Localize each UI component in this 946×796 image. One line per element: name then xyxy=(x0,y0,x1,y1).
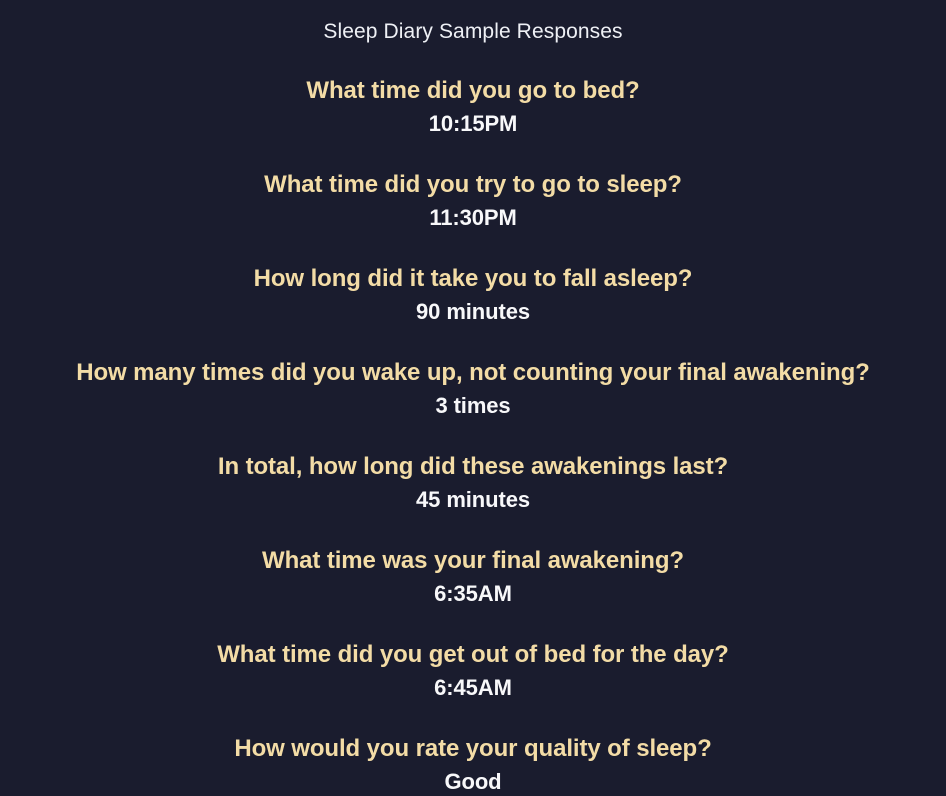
qa-pair-awakening-duration: In total, how long did these awakenings … xyxy=(0,452,946,514)
question-label: What time did you get out of bed for the… xyxy=(0,640,946,670)
qa-pair-try-to-sleep-time: What time did you try to go to sleep? 11… xyxy=(0,170,946,232)
answer-value: 45 minutes xyxy=(0,486,946,514)
qa-pair-out-of-bed-time: What time did you get out of bed for the… xyxy=(0,640,946,702)
answer-value: 11:30PM xyxy=(0,204,946,232)
question-label: How many times did you wake up, not coun… xyxy=(0,358,946,388)
qa-pair-sleep-quality-rating: How would you rate your quality of sleep… xyxy=(0,734,946,796)
page-title: Sleep Diary Sample Responses xyxy=(323,19,622,45)
qa-pair-awakening-count: How many times did you wake up, not coun… xyxy=(0,358,946,420)
answer-value: 3 times xyxy=(0,392,946,420)
question-label: What time was your final awakening? xyxy=(0,546,946,576)
question-label: What time did you try to go to sleep? xyxy=(0,170,946,200)
sleep-diary-sheet: Sleep Diary Sample Responses What time d… xyxy=(0,0,946,770)
answer-value: 6:35AM xyxy=(0,580,946,608)
answer-value: Good xyxy=(0,768,946,796)
question-answer-list: What time did you go to bed? 10:15PM Wha… xyxy=(0,45,946,796)
answer-value: 6:45AM xyxy=(0,674,946,702)
qa-pair-bedtime: What time did you go to bed? 10:15PM xyxy=(0,76,946,138)
qa-pair-final-awakening-time: What time was your final awakening? 6:35… xyxy=(0,546,946,608)
question-label: How would you rate your quality of sleep… xyxy=(0,734,946,764)
question-label: What time did you go to bed? xyxy=(0,76,946,106)
answer-value: 10:15PM xyxy=(0,110,946,138)
question-label: How long did it take you to fall asleep? xyxy=(0,264,946,294)
qa-pair-sleep-onset-latency: How long did it take you to fall asleep?… xyxy=(0,264,946,326)
answer-value: 90 minutes xyxy=(0,298,946,326)
question-label: In total, how long did these awakenings … xyxy=(0,452,946,482)
